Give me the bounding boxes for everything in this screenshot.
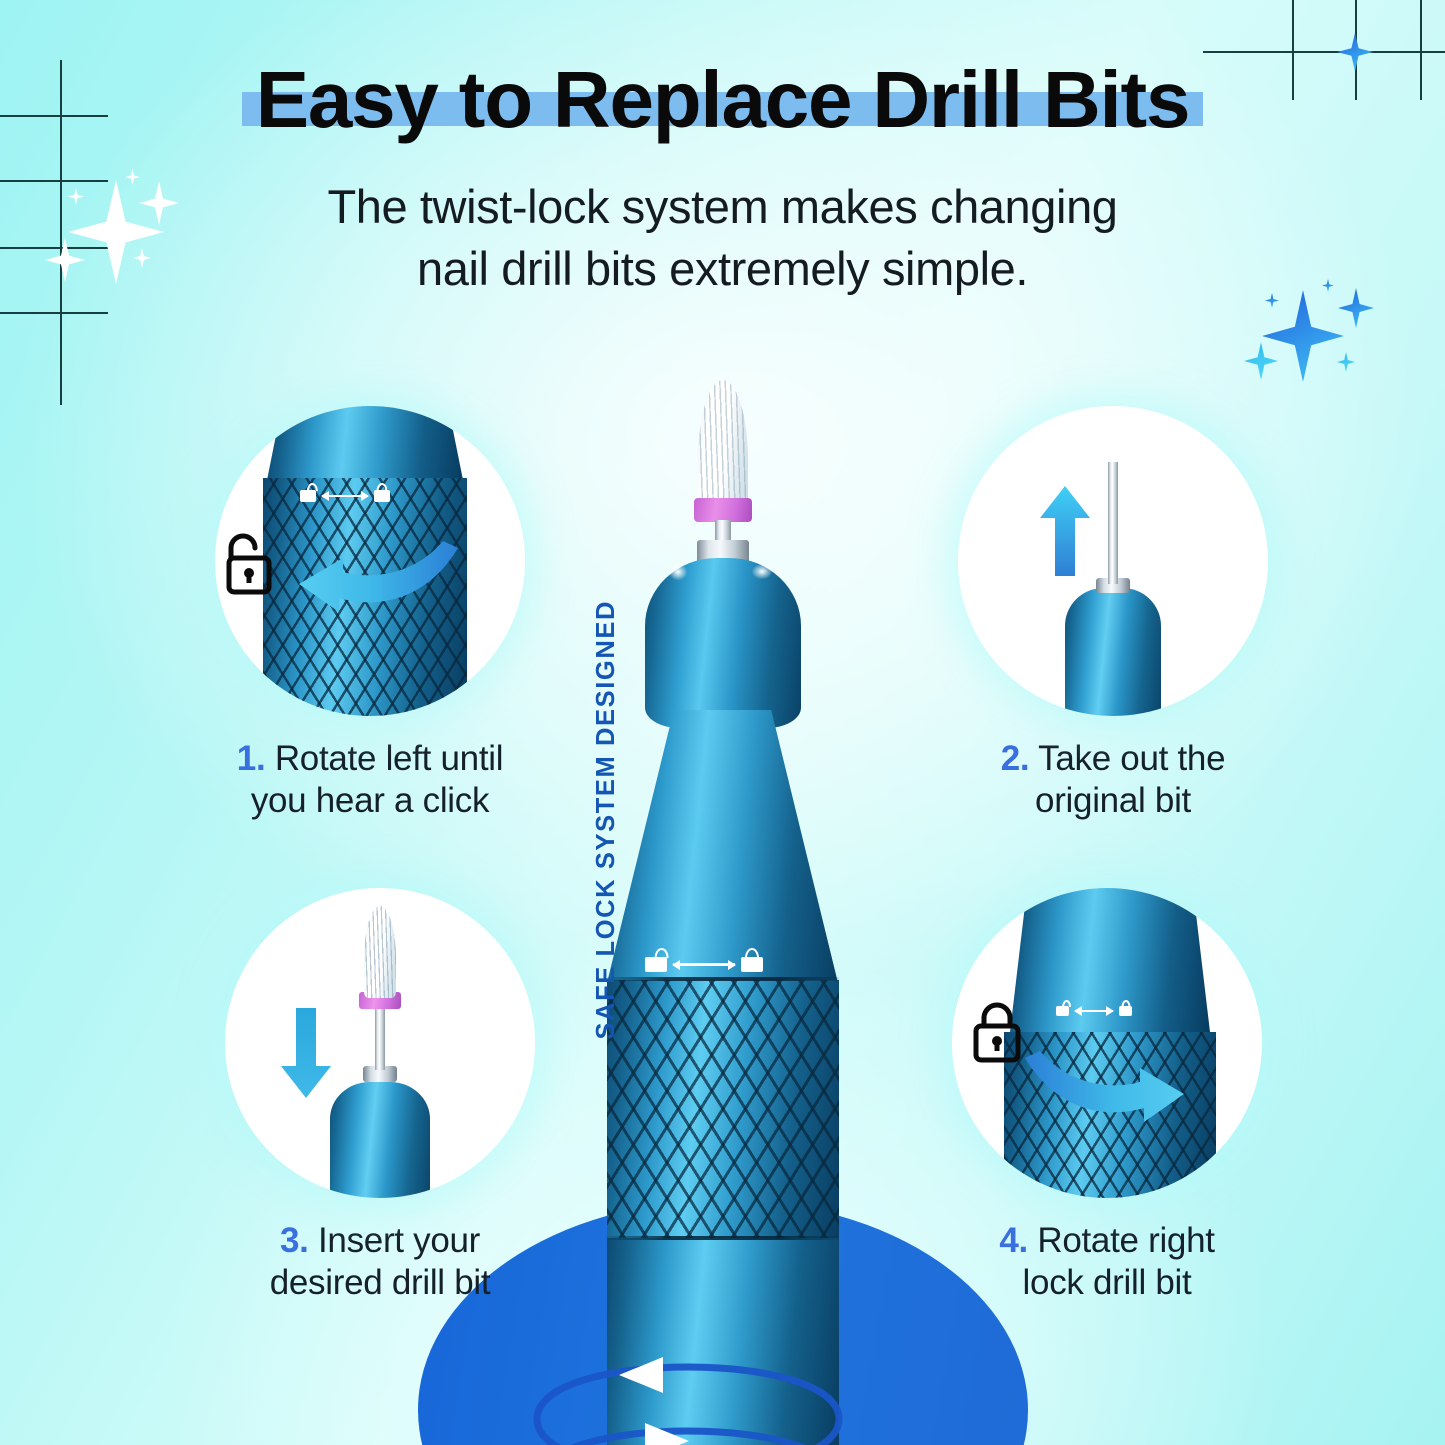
sparkle-cyan-2 xyxy=(1337,352,1355,372)
step-3-bit-flutes xyxy=(364,906,396,998)
step-1-caption: 1. Rotate left until you hear a click xyxy=(200,738,540,822)
page-title: Easy to Replace Drill Bits xyxy=(256,58,1190,142)
step-2: 2. Take out the original bit xyxy=(958,406,1283,822)
subtitle-line-2: nail drill bits extremely simple. xyxy=(0,238,1445,300)
drill-bit-collar xyxy=(694,498,752,522)
step-3-bit-ceramic xyxy=(364,906,396,998)
rotate-right-arrow-icon xyxy=(1020,1046,1190,1136)
headline-block: Easy to Replace Drill Bits The twist-loc… xyxy=(0,58,1445,300)
step-4-line-1: 4. Rotate right xyxy=(937,1220,1277,1262)
padlock-open-mini-icon xyxy=(1056,1006,1069,1016)
arrow-up-icon xyxy=(1040,486,1090,576)
step-3-number: 3. xyxy=(280,1221,309,1260)
drill-grip xyxy=(607,980,839,1243)
drill-bit-ceramic xyxy=(698,380,748,510)
drill-neck xyxy=(607,710,839,985)
step-2-bit-shaft xyxy=(1108,462,1118,584)
step-3-bit-shaft xyxy=(375,1006,385,1070)
drill-barrel xyxy=(607,1238,839,1445)
step-2-number: 2. xyxy=(1001,739,1030,778)
step-1-grip-top xyxy=(267,406,463,480)
padlock-closed-icon xyxy=(966,1000,1028,1070)
page-subtitle: The twist-lock system makes changing nai… xyxy=(0,176,1445,300)
step-4-line-2: lock drill bit xyxy=(937,1262,1277,1304)
drill-lock-marks xyxy=(645,957,763,972)
step-3-line-2: desired drill bit xyxy=(210,1262,550,1304)
drill-knurl-texture xyxy=(607,980,839,1243)
drill-seam-lower xyxy=(607,1236,839,1240)
step-2-handle-stub xyxy=(1065,588,1161,716)
page-title-wrapper: Easy to Replace Drill Bits xyxy=(256,58,1190,142)
step-1: 1. Rotate left until you hear a click xyxy=(215,406,540,822)
step-2-circle xyxy=(958,406,1268,716)
padlock-closed-mini-icon xyxy=(374,490,390,502)
step-2-caption: 2. Take out the original bit xyxy=(943,738,1283,822)
padlock-closed-mini-icon xyxy=(741,957,763,972)
rotate-left-arrow-icon xyxy=(293,536,463,626)
drill-head xyxy=(645,558,801,728)
step-3-handle-stub xyxy=(330,1082,430,1198)
product-vertical-label: SAFE LOCK SYSTEM DESIGNED xyxy=(592,600,621,1040)
step-3-circle xyxy=(225,888,535,1198)
grid-line-horizontal-left-4 xyxy=(0,312,108,314)
sparkle-cyan-1 xyxy=(1244,342,1278,380)
double-arrow-icon xyxy=(1075,1010,1113,1013)
padlock-open-icon xyxy=(215,530,277,600)
step-2-line-1: 2. Take out the xyxy=(943,738,1283,780)
subtitle-line-1: The twist-lock system makes changing xyxy=(0,176,1445,238)
sparkle-blue-large xyxy=(1262,290,1344,382)
step-2-line-2: original bit xyxy=(943,780,1283,822)
step-3: 3. Insert your desired drill bit xyxy=(225,888,550,1304)
step-1-line-1: 1. Rotate left until xyxy=(200,738,540,780)
double-arrow-icon xyxy=(322,495,368,498)
drill-bit-flutes xyxy=(698,380,748,510)
drill-seam-upper xyxy=(607,977,839,981)
double-arrow-icon xyxy=(673,963,735,966)
arrow-down-icon xyxy=(281,1008,331,1098)
step-4-lock-marks xyxy=(1056,1006,1132,1016)
step-1-number: 1. xyxy=(237,739,266,778)
step-3-caption: 3. Insert your desired drill bit xyxy=(210,1220,550,1304)
step-4-number: 4. xyxy=(999,1221,1028,1260)
grid-line-horizontal-right xyxy=(1203,51,1445,53)
step-4: 4. Rotate right lock drill bit xyxy=(952,888,1277,1304)
step-1-line-2: you hear a click xyxy=(200,780,540,822)
padlock-open-mini-icon xyxy=(300,490,316,502)
nail-drill-product xyxy=(593,380,853,1445)
infographic-canvas: Easy to Replace Drill Bits The twist-loc… xyxy=(0,0,1445,1445)
padlock-closed-mini-icon xyxy=(1119,1006,1132,1016)
step-4-caption: 4. Rotate right lock drill bit xyxy=(937,1220,1277,1304)
padlock-open-mini-icon xyxy=(645,957,667,972)
step-1-lock-marks xyxy=(300,490,390,502)
step-3-line-1: 3. Insert your xyxy=(210,1220,550,1262)
